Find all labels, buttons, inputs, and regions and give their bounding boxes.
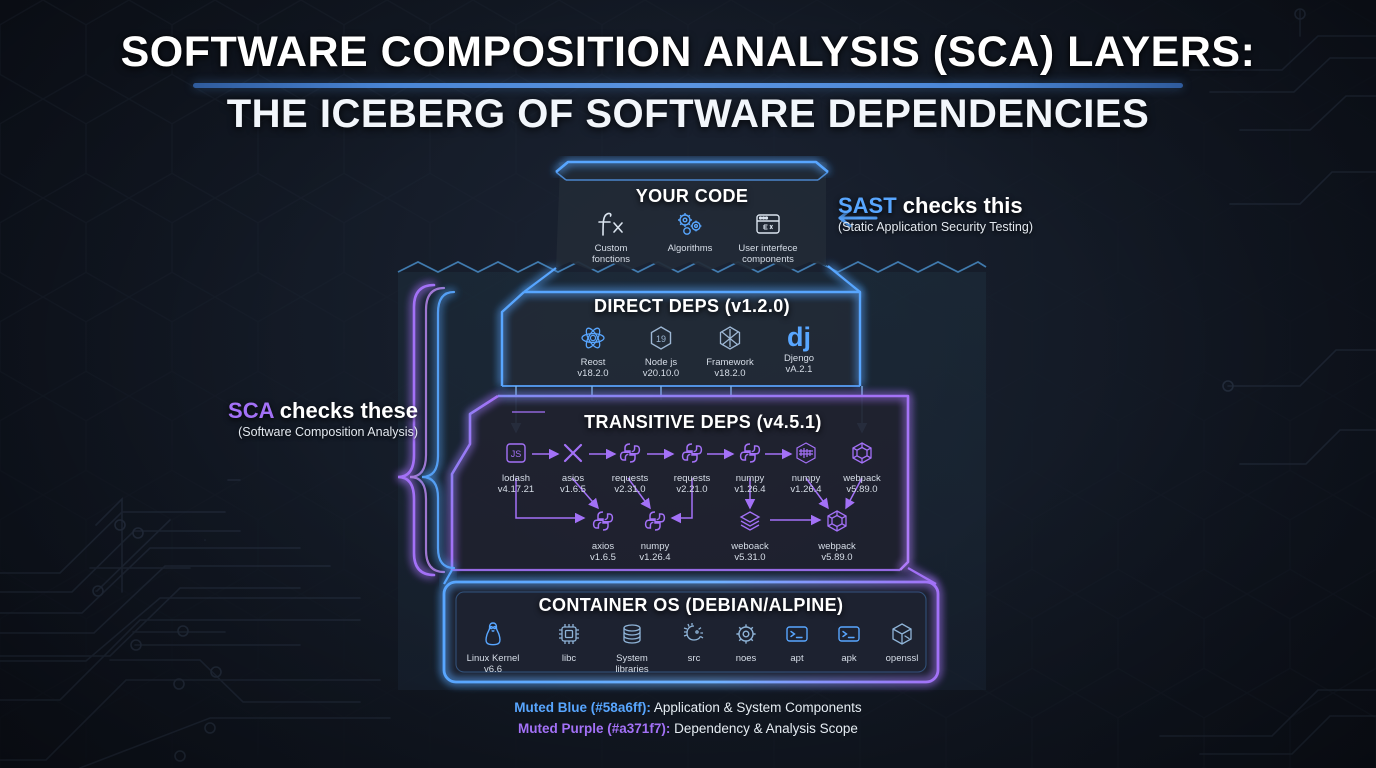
node-webpack-row1[interactable]: webpack v5.89.0 xyxy=(819,440,905,495)
sast-rest: checks this xyxy=(897,193,1023,218)
svg-text:dj: dj xyxy=(787,322,811,352)
waterline-zigzag xyxy=(398,262,986,272)
webpack-layers-icon xyxy=(707,508,793,538)
package-box-icon xyxy=(859,620,945,650)
sca-callout-subtitle: (Software Composition Analysis) xyxy=(168,425,418,439)
legend-value-blue: Application & System Components xyxy=(651,700,862,715)
browser-window-icon xyxy=(714,210,822,240)
legend-key-blue: Muted Blue (#58a6ff): xyxy=(514,700,651,715)
legend-value-purple: Dependency & Analysis Scope xyxy=(670,721,858,736)
node-numpy-row2[interactable]: numpy v1.26.4 xyxy=(612,508,698,563)
svg-text:19: 19 xyxy=(656,334,666,344)
node-user-interface-components[interactable]: User interfece components xyxy=(714,210,822,265)
django-dj-icon: dj xyxy=(756,320,842,350)
title-divider xyxy=(193,83,1183,88)
legend-row-blue: Muted Blue (#58a6ff): Application & Syst… xyxy=(0,697,1376,718)
svg-text:JS: JS xyxy=(511,449,522,459)
sca-callout: SCA checks these (Software Composition A… xyxy=(168,398,418,439)
legend: Muted Blue (#58a6ff): Application & Syst… xyxy=(0,697,1376,739)
node-webpack-row2-a[interactable]: weboack v5.31.0 xyxy=(707,508,793,563)
python-icon xyxy=(612,508,698,538)
sast-keyword: SAST xyxy=(838,193,897,218)
sast-callout-subtitle: (Static Application Security Testing) xyxy=(838,220,1033,234)
legend-key-purple: Muted Purple (#a371f7): xyxy=(518,721,670,736)
node-custom-functions[interactable]: Custom fonctions xyxy=(568,210,654,265)
node-django[interactable]: dj Djengo vA.2.1 xyxy=(756,320,842,375)
sast-callout: SAST checks this (Static Application Sec… xyxy=(838,193,1033,234)
page-subtitle: THE ICEBERG OF SOFTWARE DEPENDENCIES xyxy=(0,92,1376,137)
sast-callout-title: SAST checks this xyxy=(838,193,1033,219)
sca-rest: checks these xyxy=(274,398,418,423)
webpack-cube-icon xyxy=(819,440,905,470)
node-linux-kernel[interactable]: Linux Kernel v6.6 xyxy=(450,620,536,675)
sca-callout-title: SCA checks these xyxy=(168,398,418,424)
linux-penguin-icon xyxy=(450,620,536,650)
legend-row-purple: Muted Purple (#a371f7): Dependency & Ana… xyxy=(0,718,1376,739)
webpack-cube-icon xyxy=(794,508,880,538)
node-webpack-row2-b[interactable]: webpack v5.89.0 xyxy=(794,508,880,563)
node-openssl[interactable]: openssl xyxy=(859,620,945,664)
function-fx-icon xyxy=(568,210,654,240)
sca-keyword: SCA xyxy=(228,398,274,423)
header: SOFTWARE COMPOSITION ANALYSIS (SCA) LAYE… xyxy=(0,28,1376,137)
page-title: SOFTWARE COMPOSITION ANALYSIS (SCA) LAYE… xyxy=(0,28,1376,77)
